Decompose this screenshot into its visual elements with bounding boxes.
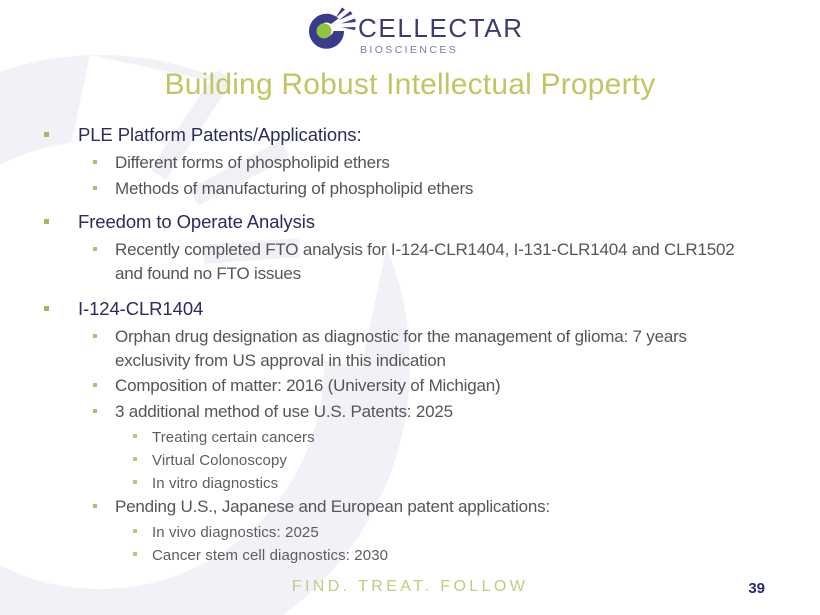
- bullet-level2: 3 additional method of use U.S. Patents:…: [0, 400, 820, 425]
- bullet-marker-icon: [93, 383, 97, 387]
- bullet-text: PLE Platform Patents/Applications:: [78, 122, 790, 148]
- bullet-level3: Cancer stem cell diagnostics: 2030: [0, 544, 820, 567]
- bullet-text: I-124-CLR1404: [78, 296, 790, 322]
- bullet-text: Freedom to Operate Analysis: [78, 209, 790, 235]
- bullet-text: 3 additional method of use U.S. Patents:…: [115, 400, 750, 424]
- bullet-marker-icon: [133, 434, 137, 438]
- bullet-text: Pending U.S., Japanese and European pate…: [115, 495, 750, 519]
- bullet-level2: Orphan drug designation as diagnostic fo…: [0, 325, 820, 373]
- page-title: Building Robust Intellectual Property: [0, 68, 820, 102]
- logo-company-name: CELLECTAR: [358, 15, 524, 41]
- bullet-text: In vivo diagnostics: 2025: [152, 521, 750, 544]
- bullet-marker-icon: [93, 247, 97, 251]
- bullet-level1: Freedom to Operate Analysis: [0, 209, 820, 236]
- bullet-level2: Different forms of phospholipid ethers: [0, 151, 820, 176]
- footer-tagline: FIND. TREAT. FOLLOW: [0, 578, 820, 596]
- bullet-level1: PLE Platform Patents/Applications:: [0, 122, 820, 149]
- bullet-text: Methods of manufacturing of phospholipid…: [115, 177, 750, 201]
- bullet-text: In vitro diagnostics: [152, 472, 750, 495]
- bullet-text: Treating certain cancers: [152, 426, 750, 449]
- cellectar-mark-icon: [300, 6, 362, 56]
- bullet-level2: Methods of manufacturing of phospholipid…: [0, 177, 820, 202]
- bullet-marker-icon: [133, 552, 137, 556]
- spacer: [0, 287, 820, 296]
- bullet-marker-icon: [93, 409, 97, 413]
- bullet-text: Different forms of phospholipid ethers: [115, 151, 750, 175]
- bullet-marker-icon: [93, 160, 97, 164]
- bullet-text: Recently completed FTO analysis for I-12…: [115, 238, 750, 286]
- bullet-level3: Treating certain cancers: [0, 426, 820, 449]
- bullet-level2: Composition of matter: 2016 (University …: [0, 374, 820, 399]
- bullet-marker-icon: [93, 186, 97, 190]
- bullet-marker-icon: [44, 219, 49, 224]
- bullet-level3: In vivo diagnostics: 2025: [0, 521, 820, 544]
- bullet-level3: In vitro diagnostics: [0, 472, 820, 495]
- slide-body: PLE Platform Patents/Applications: Diffe…: [0, 122, 820, 567]
- bullet-level2: Pending U.S., Japanese and European pate…: [0, 495, 820, 520]
- bullet-text: Virtual Colonoscopy: [152, 449, 750, 472]
- bullet-level1: I-124-CLR1404: [0, 296, 820, 323]
- bullet-marker-icon: [93, 504, 97, 508]
- presentation-slide: CELLECTAR BIOSCIENCES Building Robust In…: [0, 0, 820, 615]
- bullet-text: Cancer stem cell diagnostics: 2030: [152, 544, 750, 567]
- logo-wordmark: CELLECTAR BIOSCIENCES: [358, 15, 524, 56]
- bullet-marker-icon: [44, 132, 49, 137]
- bullet-text: Composition of matter: 2016 (University …: [115, 374, 750, 398]
- logo-company-subtitle: BIOSCIENCES: [360, 45, 524, 56]
- bullet-marker-icon: [93, 334, 97, 338]
- bullet-marker-icon: [133, 480, 137, 484]
- bullet-level3: Virtual Colonoscopy: [0, 449, 820, 472]
- bullet-marker-icon: [133, 529, 137, 533]
- bullet-marker-icon: [44, 306, 49, 311]
- company-logo: CELLECTAR BIOSCIENCES: [300, 6, 510, 58]
- slide-page-number: 39: [748, 580, 765, 597]
- bullet-marker-icon: [133, 457, 137, 461]
- bullet-text: Orphan drug designation as diagnostic fo…: [115, 325, 750, 373]
- bullet-level2: Recently completed FTO analysis for I-12…: [0, 238, 820, 286]
